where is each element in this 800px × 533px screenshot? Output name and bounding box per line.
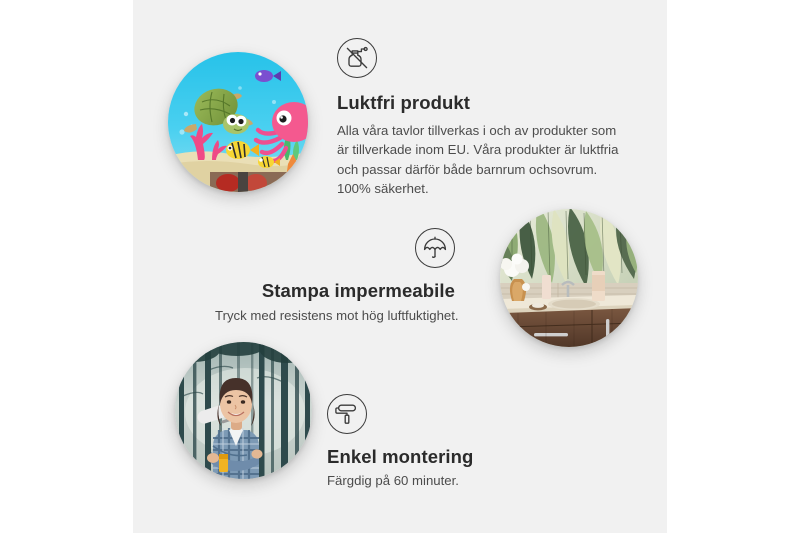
feature-title: Luktfri produkt — [337, 92, 627, 114]
no-spray-bottle-icon — [337, 38, 377, 78]
feature-title: Enkel montering — [327, 446, 577, 468]
product-photo-painter — [175, 342, 312, 479]
product-photo-underwater — [168, 52, 308, 192]
feature-description: Färgdig på 60 minuter. — [327, 471, 577, 490]
feature-description: Tryck med resistens mot hög luftfuktighe… — [215, 306, 455, 325]
umbrella-icon — [415, 228, 455, 268]
feature-odour-free: Luktfri produkt Alla våra tavlor tillver… — [337, 38, 627, 198]
product-photo-bathroom — [500, 209, 638, 347]
feature-title: Stampa impermeabile — [215, 280, 455, 302]
content-panel: Luktfri produkt Alla våra tavlor tillver… — [133, 0, 667, 533]
feature-waterproof: Stampa impermeabile Tryck med resistens … — [215, 228, 455, 325]
promo-graphic: Luktfri produkt Alla våra tavlor tillver… — [0, 0, 800, 533]
feature-easy-assembly: Enkel montering Färgdig på 60 minuter. — [327, 394, 577, 490]
feature-description: Alla våra tavlor tillverkas i och av pro… — [337, 121, 627, 198]
paint-roller-icon — [327, 394, 367, 434]
